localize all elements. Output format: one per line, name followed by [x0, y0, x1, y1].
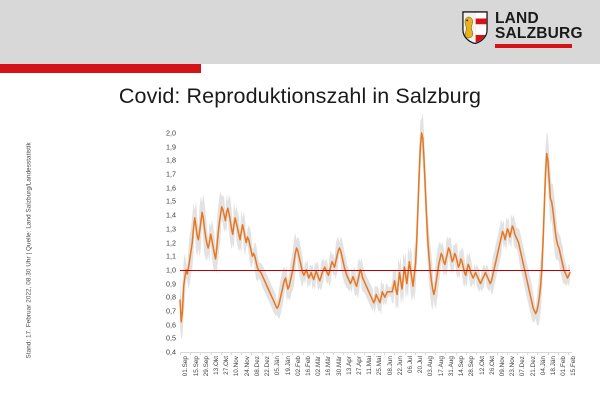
x-axis-tick-label: 25.Mai	[376, 356, 383, 375]
x-axis-tick	[517, 352, 518, 355]
y-axis-tick-label: 1,6	[166, 183, 176, 192]
x-axis-tick	[231, 352, 232, 355]
x-axis-tick-label: 20.Jul	[417, 356, 424, 373]
x-axis-tick	[415, 352, 416, 355]
x-axis-labels: 01.Sep15.Sep29.Sep13.Okt27.Okt10.Nov24.N…	[0, 356, 600, 416]
x-axis-tick-label: 09.Nov	[499, 356, 506, 376]
x-axis-tick	[221, 352, 222, 355]
y-axis-tick-label: 1,2	[166, 238, 176, 247]
y-axis-tick-label: 1,1	[166, 252, 176, 261]
x-axis-tick	[292, 352, 293, 355]
logo-underline	[495, 44, 572, 48]
x-axis-tick	[374, 352, 375, 355]
x-axis-tick-label: 01.Feb	[560, 356, 567, 376]
x-axis-tick	[251, 352, 252, 355]
x-axis-tick-label: 14.Sep	[458, 356, 465, 376]
x-axis-tick-label: 29.Sep	[203, 356, 210, 376]
y-axis-tick-label: 0,7	[166, 306, 176, 315]
x-axis-tick-label: 04.Jän	[540, 356, 547, 375]
x-axis-tick-label: 02.Feb	[295, 356, 302, 376]
x-axis-tick	[497, 352, 498, 355]
x-axis-tick	[384, 352, 385, 355]
x-axis-tick-label: 08.Dez	[254, 356, 261, 376]
x-axis-tick-label: 03.Aug	[427, 356, 434, 376]
x-axis-tick	[272, 352, 273, 355]
x-axis-tick-label: 15.Sep	[193, 356, 200, 376]
x-axis-tick-label: 10.Nov	[233, 356, 240, 376]
x-axis-tick	[507, 352, 508, 355]
x-axis-tick-label: 21.Dez	[530, 356, 537, 376]
x-axis-tick-label: 26.Okt	[489, 356, 496, 375]
y-axis-tick-label: 1,8	[166, 156, 176, 165]
x-axis-tick-label: 17.Aug	[438, 356, 445, 376]
x-axis-tick	[537, 352, 538, 355]
x-axis-tick-label: 23.Nov	[509, 356, 516, 376]
plot-area	[180, 133, 570, 352]
x-axis-tick-label: 28.Sep	[468, 356, 475, 376]
x-axis-tick-label: 24.Nov	[244, 356, 251, 376]
x-axis-tick-label: 22.Dez	[264, 356, 271, 376]
x-axis-tick-label: 05.Jän	[274, 356, 281, 375]
series-reproduktionszahl	[180, 133, 570, 352]
y-axis-tick-label: 1,3	[166, 224, 176, 233]
y-axis-tick-label: 2,0	[166, 129, 176, 138]
x-axis-tick-label: 07.Dez	[519, 356, 526, 376]
logo-line-salzburg: SALZBURG	[495, 26, 583, 41]
land-salzburg-logo: LAND SALZBURG	[462, 11, 582, 53]
x-axis-tick	[303, 352, 304, 355]
x-axis-tick	[364, 352, 365, 355]
x-axis-tick-label: 31.Aug	[448, 356, 455, 376]
x-axis-tick-label: 08.Jun	[387, 356, 394, 375]
logo-line-land: LAND	[495, 11, 583, 26]
y-axis-tick-label: 1,5	[166, 197, 176, 206]
x-axis-tick	[445, 352, 446, 355]
x-axis-tick	[323, 352, 324, 355]
x-axis-tick-label: 16.Feb	[305, 356, 312, 376]
x-axis-tick	[425, 352, 426, 355]
x-axis-tick	[476, 352, 477, 355]
x-axis-tick	[548, 352, 549, 355]
x-axis-tick-label: 11.Mai	[366, 356, 373, 375]
reference-line-1	[180, 270, 570, 271]
y-axis-tick-label: 1,0	[166, 265, 176, 274]
x-axis-tick	[190, 352, 191, 355]
y-axis-tick-label: 0,6	[166, 320, 176, 329]
x-axis-tick	[241, 352, 242, 355]
x-axis-tick-label: 13.Apr	[346, 356, 353, 375]
x-axis-line	[180, 352, 572, 353]
x-axis-tick-label: 15.Feb	[570, 356, 577, 376]
x-axis-tick-label: 19.Jän	[285, 356, 292, 375]
y-axis-tick-label: 0,5	[166, 334, 176, 343]
y-axis-tick-label: 0,9	[166, 279, 176, 288]
x-axis-tick-label: 01.Sep	[182, 356, 189, 376]
y-axis-labels: 2,01,91,81,71,61,51,41,31,21,11,00,90,80…	[152, 126, 176, 359]
x-axis-tick-label: 30.Mär	[336, 356, 343, 376]
x-axis-tick	[558, 352, 559, 355]
x-axis-tick	[456, 352, 457, 355]
x-axis-tick	[405, 352, 406, 355]
x-axis-tick	[466, 352, 467, 355]
y-axis-tick-label: 1,4	[166, 211, 176, 220]
x-axis-tick	[282, 352, 283, 355]
x-axis-tick-label: 16.Mär	[325, 356, 332, 376]
y-axis-tick-label: 1,7	[166, 170, 176, 179]
header-red-rule	[0, 64, 201, 73]
y-axis-tick-label: 1,9	[166, 142, 176, 151]
x-axis-tick	[486, 352, 487, 355]
x-axis-tick-label: 13.Okt	[213, 356, 220, 375]
x-axis-tick	[435, 352, 436, 355]
x-axis-tick	[568, 352, 569, 355]
page-title: Covid: Reproduktionszahl in Salzburg	[0, 84, 600, 109]
salzburg-coat-of-arms-icon	[462, 11, 488, 44]
x-axis-tick	[354, 352, 355, 355]
x-axis-tick-label: 18.Jän	[550, 356, 557, 375]
x-axis-tick	[343, 352, 344, 355]
x-axis-tick	[333, 352, 334, 355]
x-axis-tick	[262, 352, 263, 355]
x-axis-tick-label: 27.Okt	[223, 356, 230, 375]
x-axis-tick	[180, 352, 181, 355]
x-axis-tick	[200, 352, 201, 355]
x-axis-tick	[394, 352, 395, 355]
reproduction-number-chart: 2,01,91,81,71,61,51,41,31,21,11,00,90,80…	[0, 126, 600, 366]
x-axis-tick-label: 27.Apr	[356, 356, 363, 375]
x-axis-tick-label: 06.Jul	[407, 356, 414, 373]
x-axis-tick-label: 02.Mär	[315, 356, 322, 376]
x-axis-tick	[313, 352, 314, 355]
x-axis-tick	[527, 352, 528, 355]
y-axis-tick-label: 0,8	[166, 293, 176, 302]
x-axis-tick-label: 12.Okt	[479, 356, 486, 375]
x-axis-tick-label: 22.Jun	[397, 356, 404, 375]
x-axis-tick	[211, 352, 212, 355]
